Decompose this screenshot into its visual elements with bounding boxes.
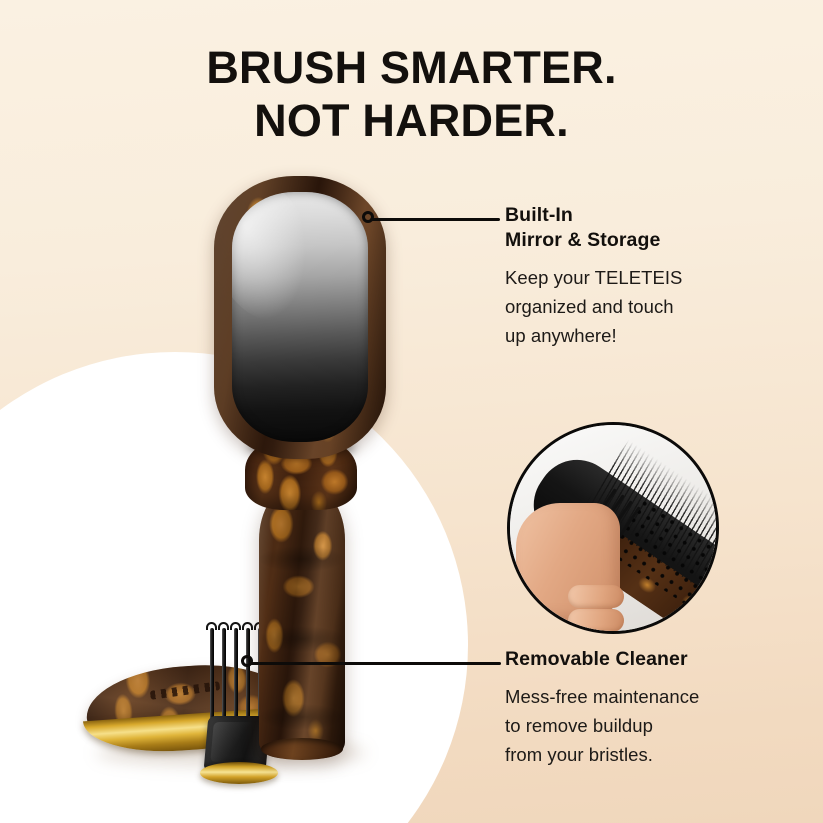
inset-photo-bristle-cleaning [507, 422, 719, 634]
leader-stroke-cleaner [249, 662, 501, 665]
callout-cleaner-body-line-1: Mess-free maintenance [505, 682, 805, 711]
handle-base [261, 738, 343, 760]
callout-mirror: Built-In Mirror & Storage Keep your TELE… [505, 203, 805, 351]
callout-mirror-title-line-2: Mirror & Storage [505, 228, 805, 253]
inset-finger-2 [568, 609, 624, 632]
leader-line-cleaner [241, 655, 503, 671]
callout-mirror-body-line-2: organized and touch [505, 292, 805, 321]
inset-hand [516, 503, 620, 621]
callout-mirror-title-line-1: Built-In [505, 203, 805, 228]
leader-line-mirror [362, 211, 502, 227]
callout-cleaner-title-line-1: Removable Cleaner [505, 647, 805, 672]
brush-back-gold-clasp [86, 699, 119, 745]
callout-mirror-body: Keep your TELETEIS organized and touch u… [505, 263, 805, 351]
brush-handle [259, 486, 345, 758]
cleaner-gold-base [200, 762, 278, 784]
mirror-glass [232, 192, 368, 442]
callout-cleaner-body-line-2: to remove buildup [505, 711, 805, 740]
callout-cleaner-body-line-3: from your bristles. [505, 740, 805, 769]
callout-mirror-title: Built-In Mirror & Storage [505, 203, 805, 253]
leader-dot-mirror [362, 211, 374, 223]
inset-finger-1 [568, 585, 624, 608]
leader-dot-cleaner [241, 655, 253, 667]
infographic-canvas: BRUSH SMARTER. NOT HARDER. [0, 0, 823, 823]
callout-cleaner-title: Removable Cleaner [505, 647, 805, 672]
callout-cleaner: Removable Cleaner Mess-free maintenance … [505, 647, 805, 770]
callout-mirror-body-line-3: up anywhere! [505, 321, 805, 350]
leader-stroke-mirror [370, 218, 500, 221]
callout-mirror-body-line-1: Keep your TELETEIS [505, 263, 805, 292]
callout-cleaner-body: Mess-free maintenance to remove buildup … [505, 682, 805, 770]
